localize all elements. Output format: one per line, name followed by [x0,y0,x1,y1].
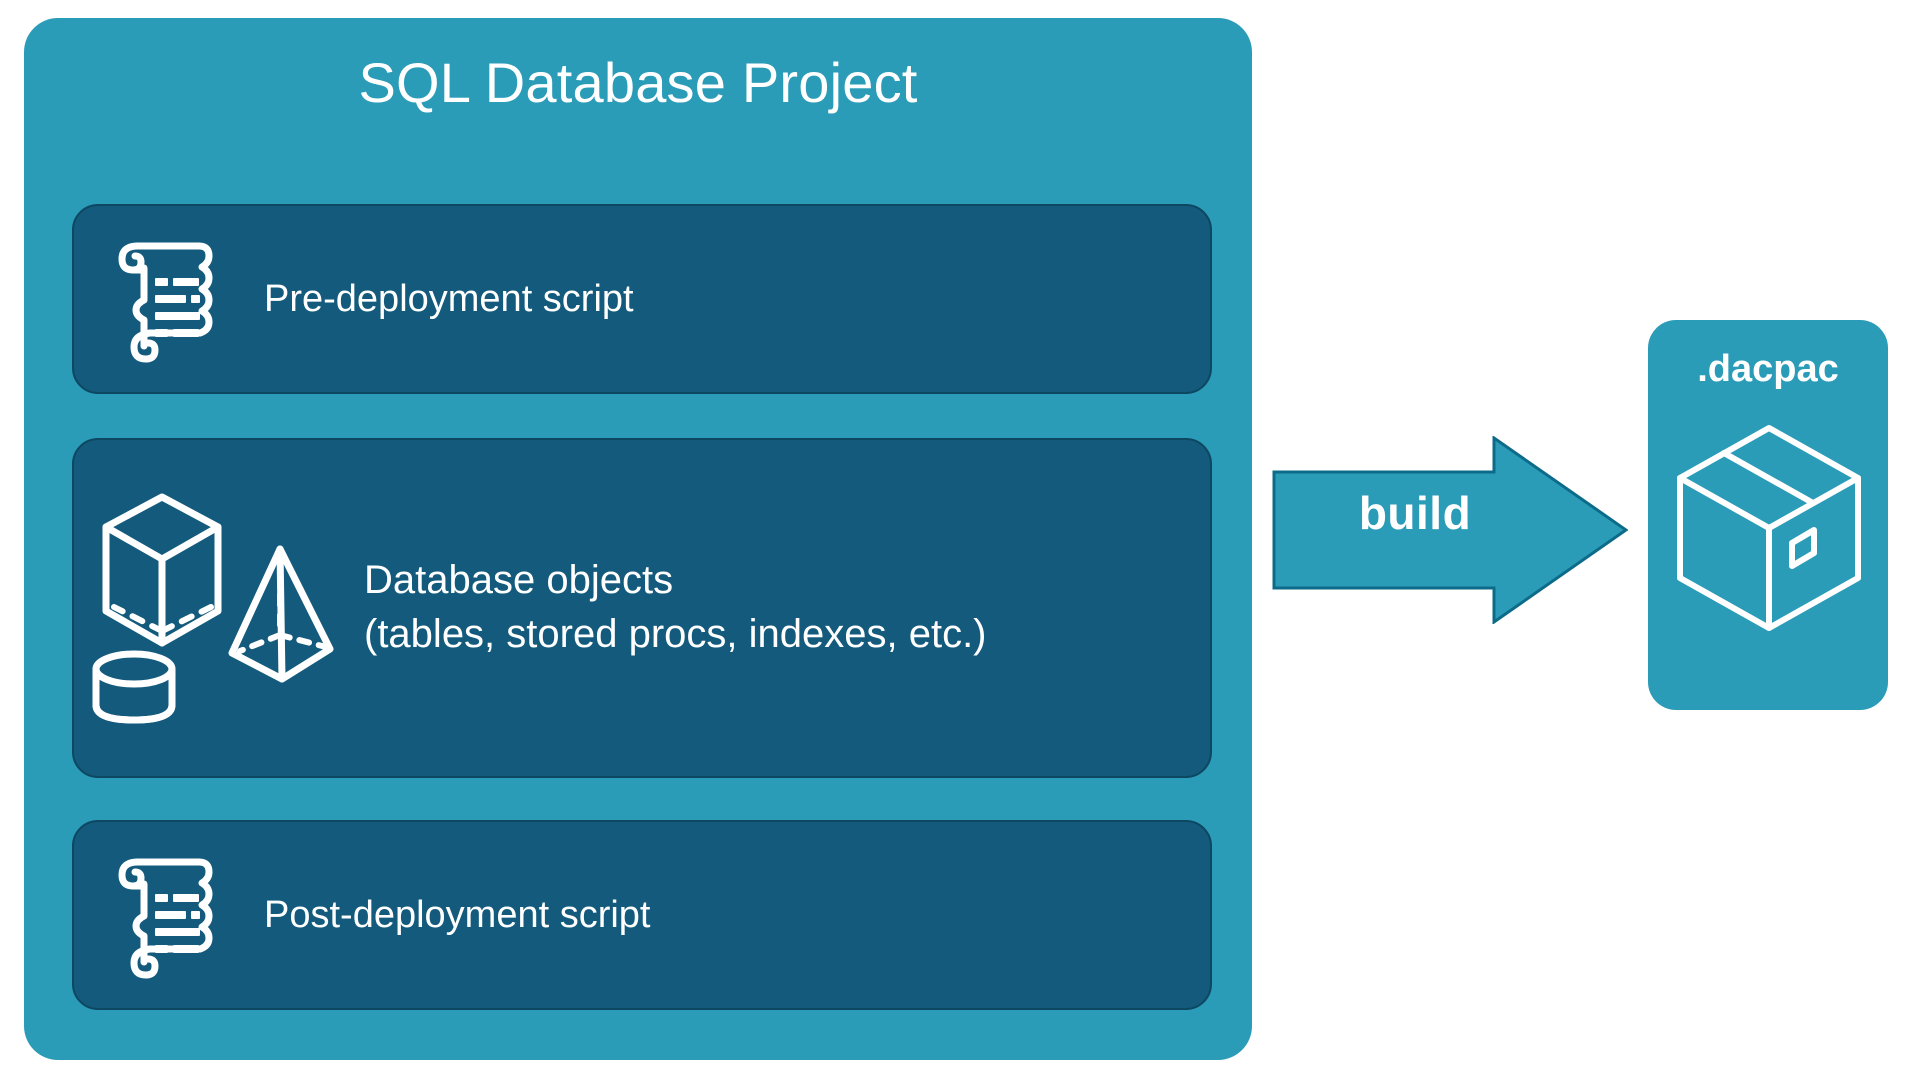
package-box-icon [1674,420,1864,640]
dacpac-label: .dacpac [1648,350,1888,388]
scroll-icon [74,850,264,980]
database-objects-icon-group [74,483,364,733]
card-post-deployment-label: Post-deployment script [264,890,651,941]
sql-database-project-panel: SQL Database Project [24,18,1252,1060]
pyramid-icon [232,549,330,679]
scroll-icon [74,234,264,364]
card-pre-deployment-label: Pre-deployment script [264,274,634,325]
cylinder-icon [96,654,172,720]
card-pre-deployment-script[interactable]: Pre-deployment script [72,204,1212,394]
card-database-objects-label: Database objects (tables, stored procs, … [364,554,987,661]
dacpac-output-panel[interactable]: .dacpac [1648,320,1888,710]
card-post-deployment-script[interactable]: Post-deployment script [72,820,1212,1010]
page-title: SQL Database Project [24,52,1252,114]
cube-icon [106,497,218,643]
build-label: build [1300,490,1530,536]
card-database-objects[interactable]: Database objects (tables, stored procs, … [72,438,1212,778]
